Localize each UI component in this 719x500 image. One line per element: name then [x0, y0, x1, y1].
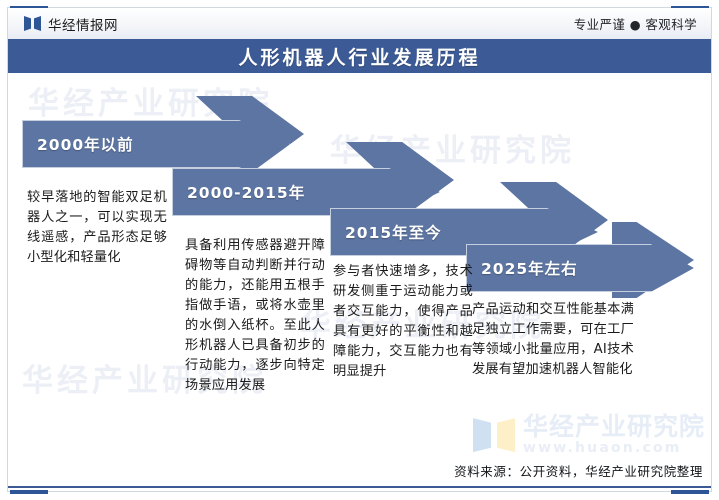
- bowtie-logo-icon: [24, 16, 41, 31]
- timeline-stage-1-label: 2000年以前: [23, 133, 134, 155]
- timeline-stage-3-label: 2015年至今: [331, 221, 442, 243]
- watermark-logo-text: 华经产业研究院 www.huaon.com: [523, 414, 705, 456]
- watermark-logo-url: www.huaon.com: [523, 441, 705, 456]
- bowtie-logo-icon: [473, 418, 515, 452]
- source-note: 资料来源：公开资料，华经产业研究院整理: [454, 461, 703, 480]
- timeline-stage-4-arrow[interactable]: 2025年左右: [466, 244, 694, 292]
- page-header: 华经情报网 专业严谨 ● 客观科学: [8, 8, 711, 39]
- timeline-stage-4-label: 2025年左右: [467, 257, 578, 279]
- header-slogan: 专业严谨 ● 客观科学: [574, 14, 697, 33]
- timeline-stage-2-label: 2000-2015年: [173, 181, 305, 203]
- watermark-logo-name: 华经产业研究院: [523, 414, 705, 440]
- timeline-stage-1-arrow[interactable]: 2000年以前: [22, 120, 290, 168]
- page-title-band: 人形机器人行业发展历程: [8, 39, 711, 73]
- timeline-stage-4-body: 产品运动和交互性能基本满足独立工作需要，可在工厂等领域小批量应用，AI技术发展有…: [472, 300, 634, 380]
- timeline-stage-2-body: 具备利用传感器避开障碍物等自动判断并行动的能力，还能用五根手指做手语，或将水壶里…: [185, 236, 325, 397]
- brand-name: 华经情报网: [48, 14, 118, 34]
- brand: 华经情报网: [24, 14, 118, 34]
- watermark-logo: 华经产业研究院 www.huaon.com: [473, 414, 705, 456]
- infographic-page: 华经产业研究院 华经产业研究院 华经产业研究院 华经产业研究院 华经产业研究院 …: [0, 0, 719, 500]
- accent-bar-bottom-left: [10, 490, 48, 494]
- timeline-stage-3-body: 参与者快速增多，技术研发侧重于运动能力或者交互能力，使得产品具有更好的平衡性和越…: [333, 262, 473, 382]
- footer-rule: [8, 486, 711, 488]
- accent-bar-bottom-right: [671, 490, 709, 494]
- timeline-stage-1-body: 较早落地的智能双足机器人之一，可以实现无线遥感，产品形态足够小型化和轻量化: [27, 188, 167, 268]
- page-title: 人形机器人行业发展历程: [238, 43, 480, 70]
